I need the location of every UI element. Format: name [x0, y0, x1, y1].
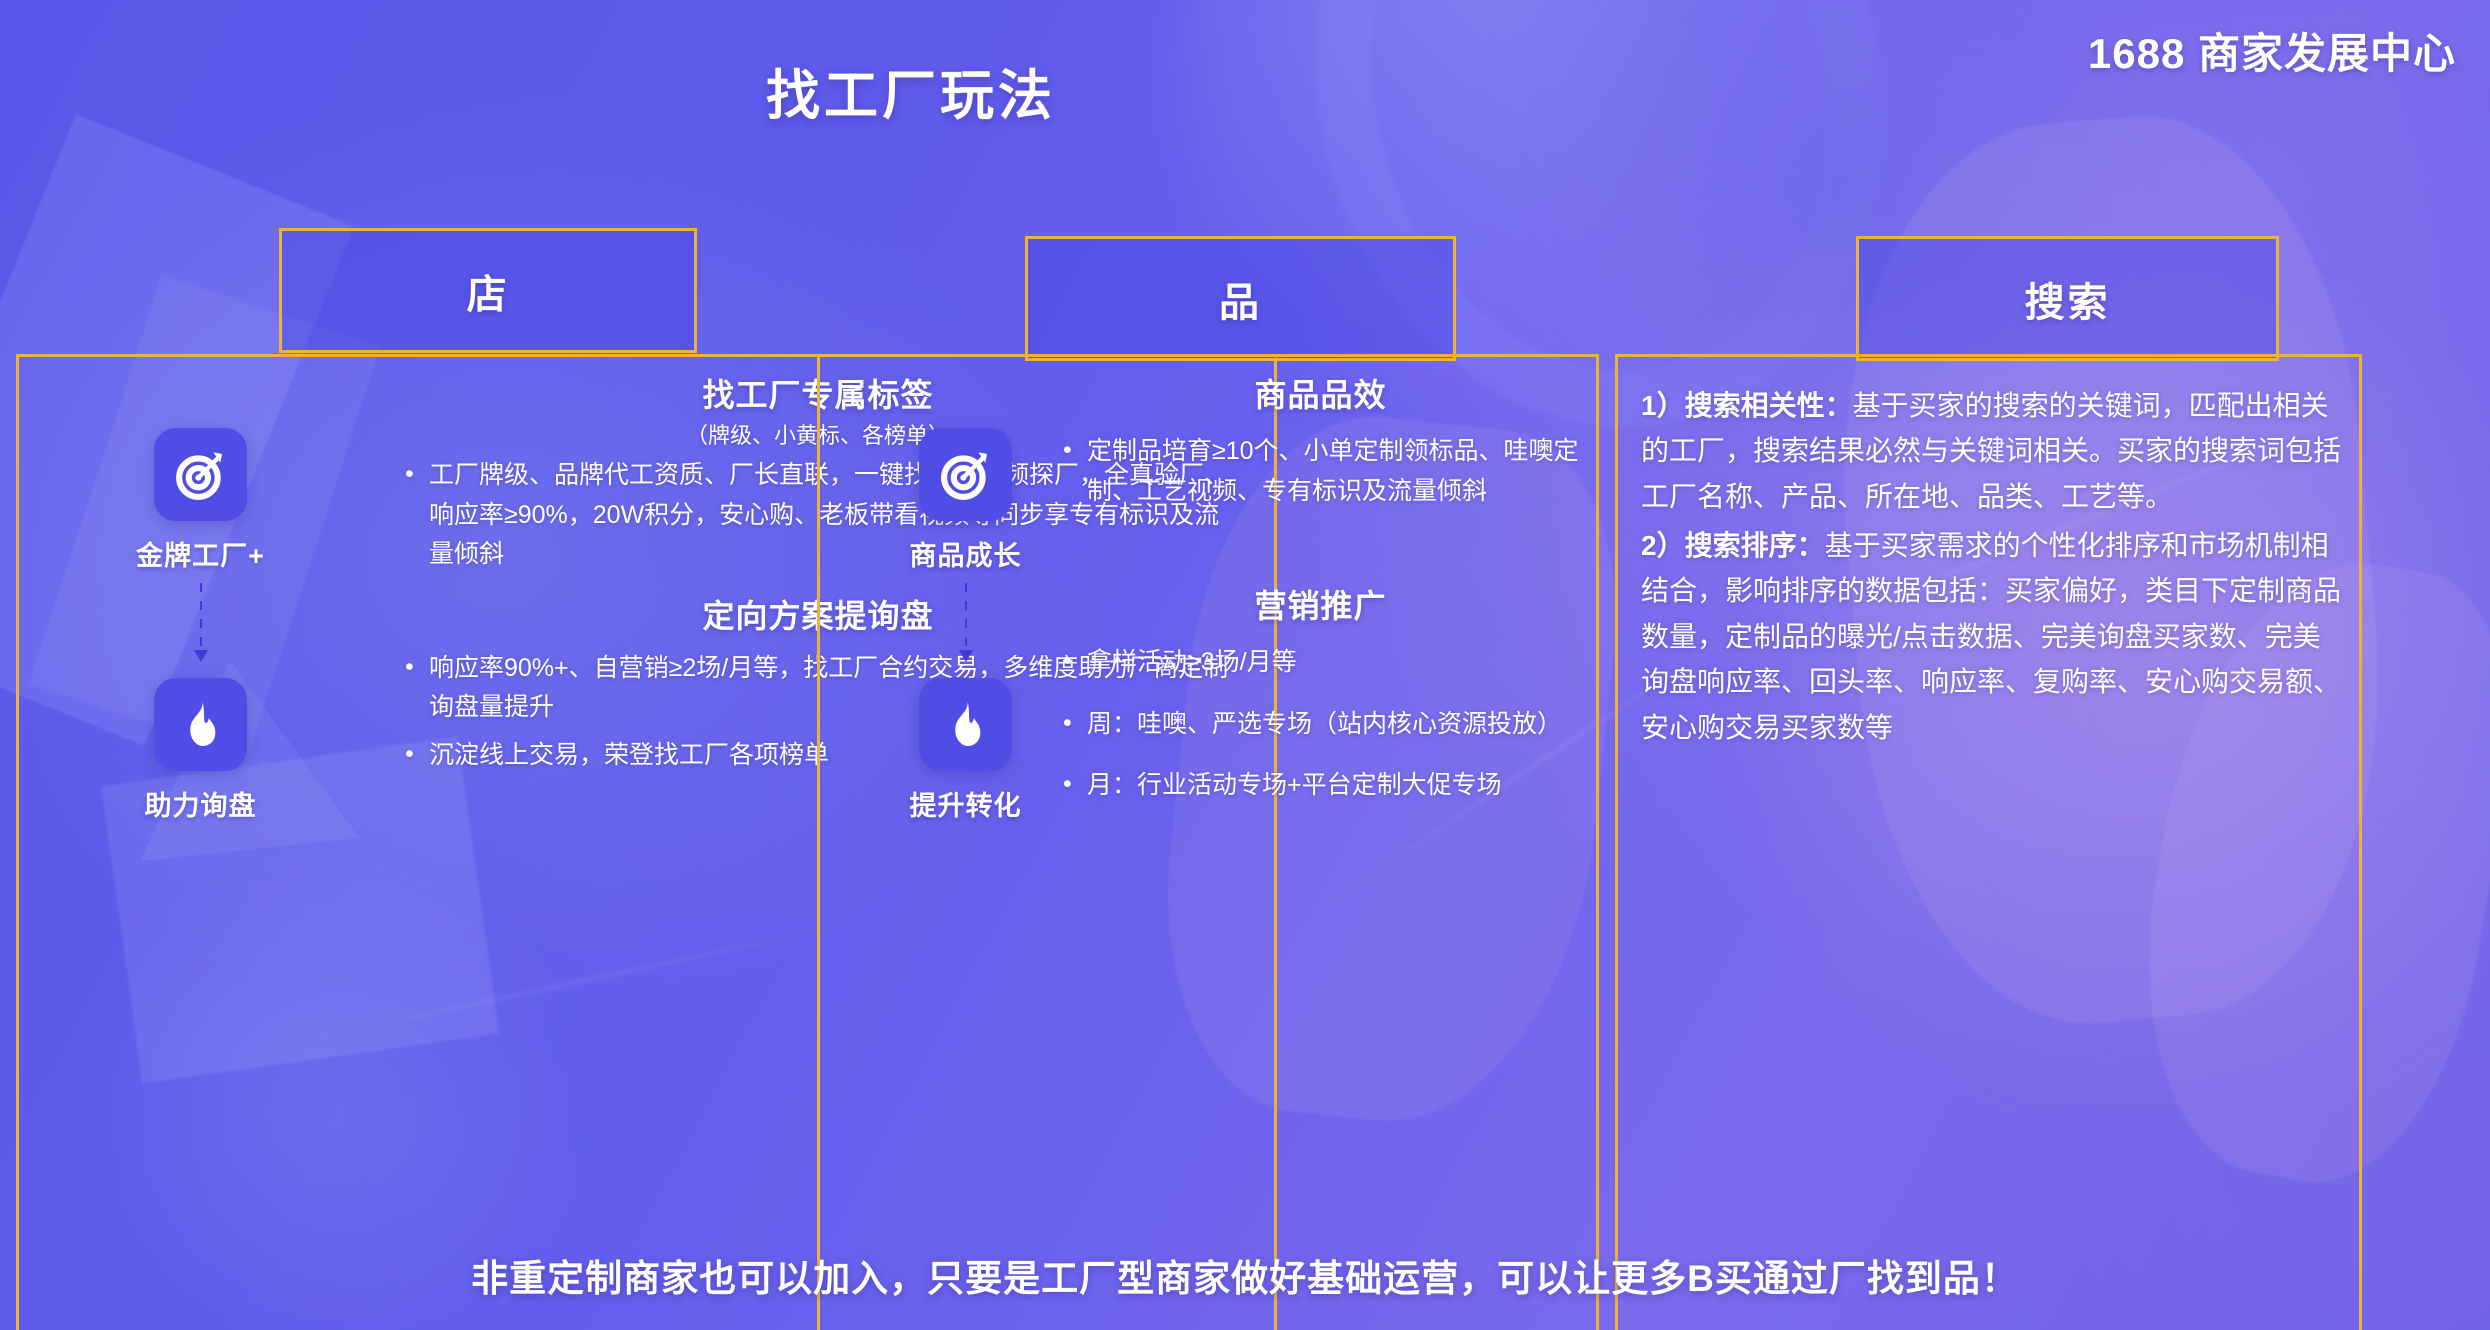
column-header-shop[interactable]: 店 [279, 228, 697, 353]
rail-connector-product [965, 583, 967, 660]
rail-connector-shop [200, 583, 202, 660]
brand-title: 1688 商家发展中心 [2088, 20, 2456, 81]
section-title-product-0: 商品品效 [1057, 370, 1584, 416]
paragraph-body-1: 基于买家需求的个性化排序和市场机制相结合，影响排序的数据包括：买家偏好，类目下定… [1641, 530, 2341, 742]
target-icon [938, 447, 994, 503]
content-product: 商品品效 定制品培育≥10个、小单定制领标品、哇噢定制、工艺视频、专有标识及流量… [1057, 370, 1584, 814]
paragraph-search-1: 2）搜索排序：基于买家需求的个性化排序和市场机制相结合，影响排序的数据包括：买家… [1641, 523, 2343, 750]
column-header-search[interactable]: 搜索 [1856, 236, 2279, 361]
list-item: 定制品培育≥10个、小单定制领标品、哇噢定制、工艺视频、专有标识及流量倾斜 [1057, 432, 1584, 511]
rail-label-shop-1: 助力询盘 [145, 784, 257, 823]
paragraph-lead-0: 1）搜索相关性： [1641, 390, 1853, 421]
rail-label-product-0: 商品成长 [910, 534, 1022, 573]
column-header-shop-label: 店 [467, 262, 510, 320]
target-icon [173, 447, 229, 503]
section-title-product-1: 营销推广 [1057, 581, 1584, 627]
rail-product: 商品成长 提升转化 [846, 428, 1085, 1114]
flame-icon-tile-product[interactable] [919, 678, 1012, 771]
flame-icon-tile-shop[interactable] [154, 678, 247, 771]
bullet-list-product-1: 拿样活动≥3场/月等 周：哇噢、严选专场（站内核心资源投放） 月：行业活动专场+… [1057, 643, 1584, 806]
target-icon-tile-product[interactable] [919, 428, 1012, 521]
flame-icon [173, 697, 229, 753]
rail-shop: 金牌工厂+ 助力询盘 [61, 428, 340, 1114]
content-board: 店 金牌工厂+ 助力询盘 找工厂专属标签 （牌级、小黄标、各榜单） 工厂牌级、品… [0, 0, 2490, 1330]
paragraph-search-0: 1）搜索相关性：基于买家的搜索的关键词，匹配出相关的工厂，搜索结果必然与关键词相… [1641, 383, 2343, 519]
flame-icon [938, 697, 994, 753]
bullet-list-product-0: 定制品培育≥10个、小单定制领标品、哇噢定制、工艺视频、专有标识及流量倾斜 [1057, 432, 1584, 511]
column-header-search-label: 搜索 [2025, 270, 2111, 328]
paragraph-lead-1: 2）搜索排序： [1641, 530, 1825, 561]
list-item: 拿样活动≥3场/月等 [1057, 643, 1584, 683]
column-header-product-label: 品 [1219, 270, 1262, 328]
list-item: 周：哇噢、严选专场（站内核心资源投放） [1057, 705, 1584, 745]
page-title: 找工厂玩法 [766, 51, 1056, 130]
list-item: 月：行业活动专场+平台定制大促专场 [1057, 766, 1584, 806]
target-icon-tile-shop[interactable] [154, 428, 247, 521]
footer-note: 非重定制商家也可以加入，只要是工厂型商家做好基础运营，可以让更多B买通过厂找到品… [0, 1248, 2490, 1302]
rail-label-product-1: 提升转化 [910, 784, 1022, 823]
column-header-product[interactable]: 品 [1025, 236, 1456, 361]
content-search: 1）搜索相关性：基于买家的搜索的关键词，匹配出相关的工厂，搜索结果必然与关键词相… [1641, 383, 2343, 754]
rail-label-shop-0: 金牌工厂+ [136, 534, 265, 573]
